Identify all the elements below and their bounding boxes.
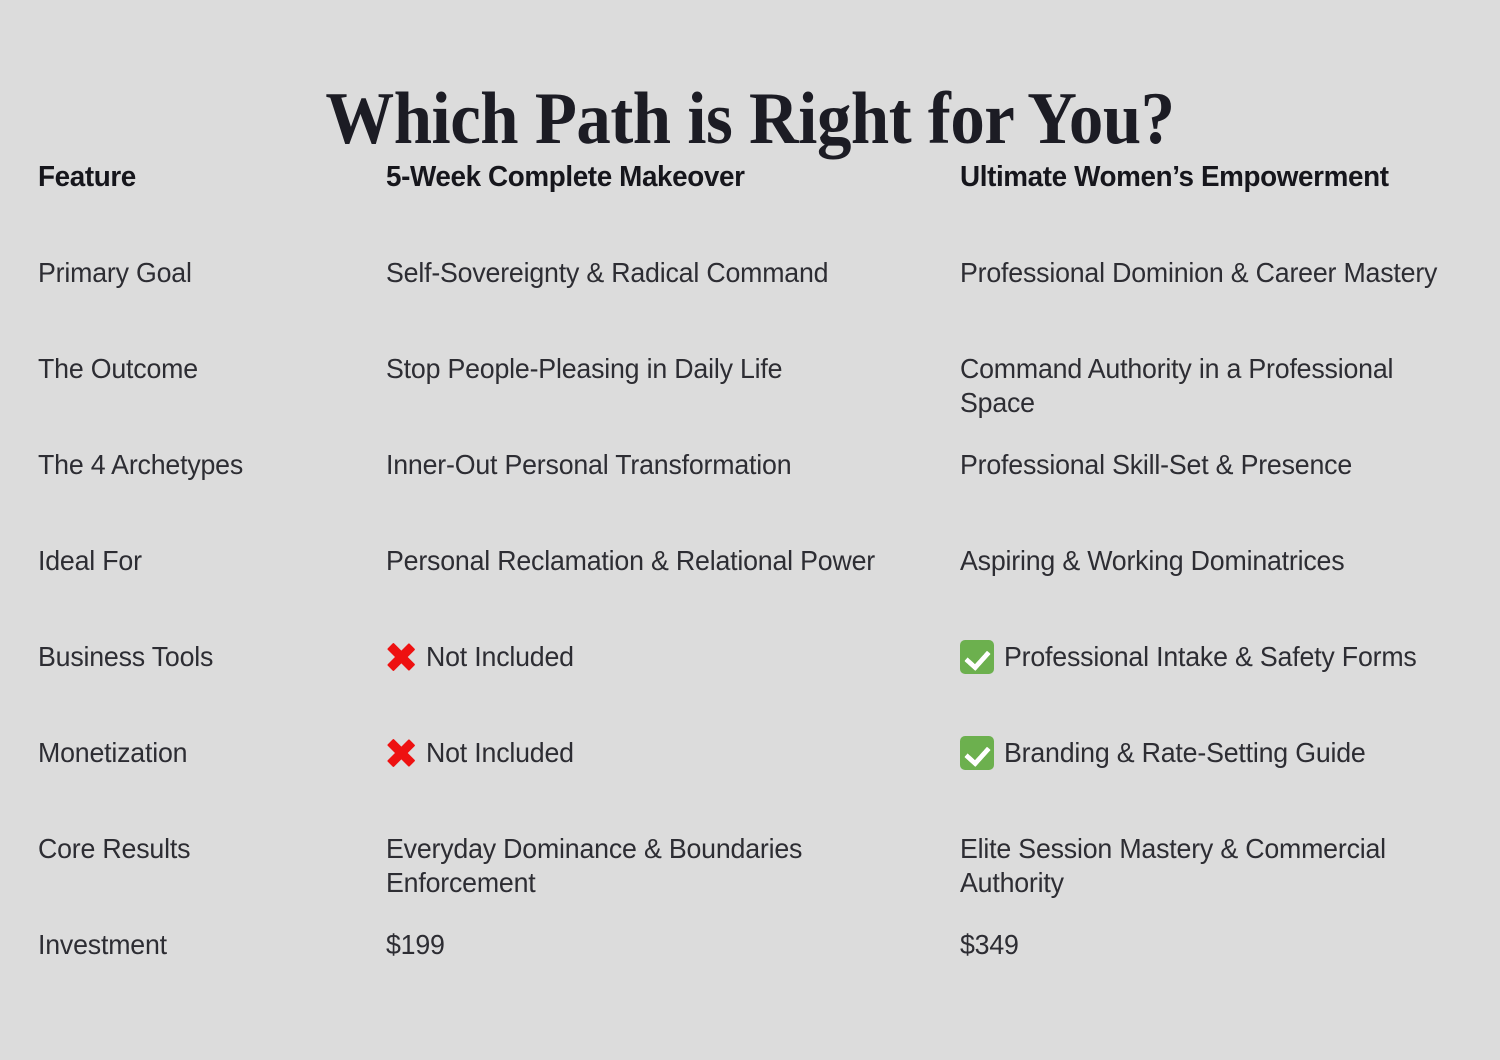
row-makeover-value: $199 [386, 928, 960, 962]
status-not-included: Not Included [386, 736, 960, 770]
row-makeover-value: Self-Sovereignty & Radical Command [386, 256, 960, 290]
header-cell-feature: Feature [38, 160, 386, 194]
row-feature-label: Core Results [38, 832, 386, 866]
cross-mark-icon [386, 642, 416, 672]
table-row: Investment $199 $349 [38, 928, 1468, 1024]
row-empowerment-value: Elite Session Mastery & Commercial Autho… [960, 832, 1468, 900]
row-feature-label: Business Tools [38, 640, 386, 674]
comparison-table: Feature 5-Week Complete Makeover Ultimat… [38, 160, 1468, 1024]
table-row: Monetization Not Included Branding & Rat… [38, 736, 1468, 832]
row-feature-label: Primary Goal [38, 256, 386, 290]
row-empowerment-value: Branding & Rate-Setting Guide [960, 736, 1468, 770]
row-makeover-value: Personal Reclamation & Relational Power [386, 544, 960, 578]
row-makeover-value: Inner-Out Personal Transformation [386, 448, 960, 482]
row-feature-label: Ideal For [38, 544, 386, 578]
row-makeover-value: Not Included [386, 640, 960, 674]
row-feature-label: Monetization [38, 736, 386, 770]
header-label-empowerment: Ultimate Women’s Empowerment [960, 160, 1448, 194]
row-empowerment-value: Professional Intake & Safety Forms [960, 640, 1468, 674]
row-empowerment-value: Aspiring & Working Dominatrices [960, 544, 1468, 578]
row-makeover-value: Stop People-Pleasing in Daily Life [386, 352, 960, 386]
header-cell-empowerment: Ultimate Women’s Empowerment [960, 160, 1468, 194]
row-makeover-value: Everyday Dominance & Boundaries Enforcem… [386, 832, 960, 900]
comparison-table-page: Which Path is Right for You? Feature 5-W… [0, 0, 1500, 1060]
header-label-feature: Feature [38, 160, 372, 194]
page-title: Which Path is Right for You? [53, 76, 1448, 162]
row-makeover-value: Not Included [386, 736, 960, 770]
table-row: Core Results Everyday Dominance & Bounda… [38, 832, 1468, 928]
check-mark-icon [960, 736, 994, 770]
row-empowerment-value: Professional Dominion & Career Mastery [960, 256, 1468, 290]
header-cell-makeover: 5-Week Complete Makeover [386, 160, 960, 194]
table-row: The Outcome Stop People-Pleasing in Dail… [38, 352, 1468, 448]
header-label-makeover: 5-Week Complete Makeover [386, 160, 937, 194]
status-not-included: Not Included [386, 640, 960, 674]
row-feature-label: The Outcome [38, 352, 386, 386]
cross-mark-icon [386, 738, 416, 768]
table-row: The 4 Archetypes Inner-Out Personal Tran… [38, 448, 1468, 544]
table-row: Ideal For Personal Reclamation & Relatio… [38, 544, 1468, 640]
status-included: Branding & Rate-Setting Guide [960, 736, 1468, 770]
table-row: Primary Goal Self-Sovereignty & Radical … [38, 256, 1468, 352]
status-included: Professional Intake & Safety Forms [960, 640, 1468, 674]
row-empowerment-value: $349 [960, 928, 1468, 962]
row-feature-label: The 4 Archetypes [38, 448, 386, 482]
table-row: Business Tools Not Included Professional… [38, 640, 1468, 736]
table-header-row: Feature 5-Week Complete Makeover Ultimat… [38, 160, 1468, 256]
check-mark-icon [960, 640, 994, 674]
row-feature-label: Investment [38, 928, 386, 962]
row-empowerment-value: Command Authority in a Professional Spac… [960, 352, 1468, 420]
row-empowerment-value: Professional Skill-Set & Presence [960, 448, 1468, 482]
